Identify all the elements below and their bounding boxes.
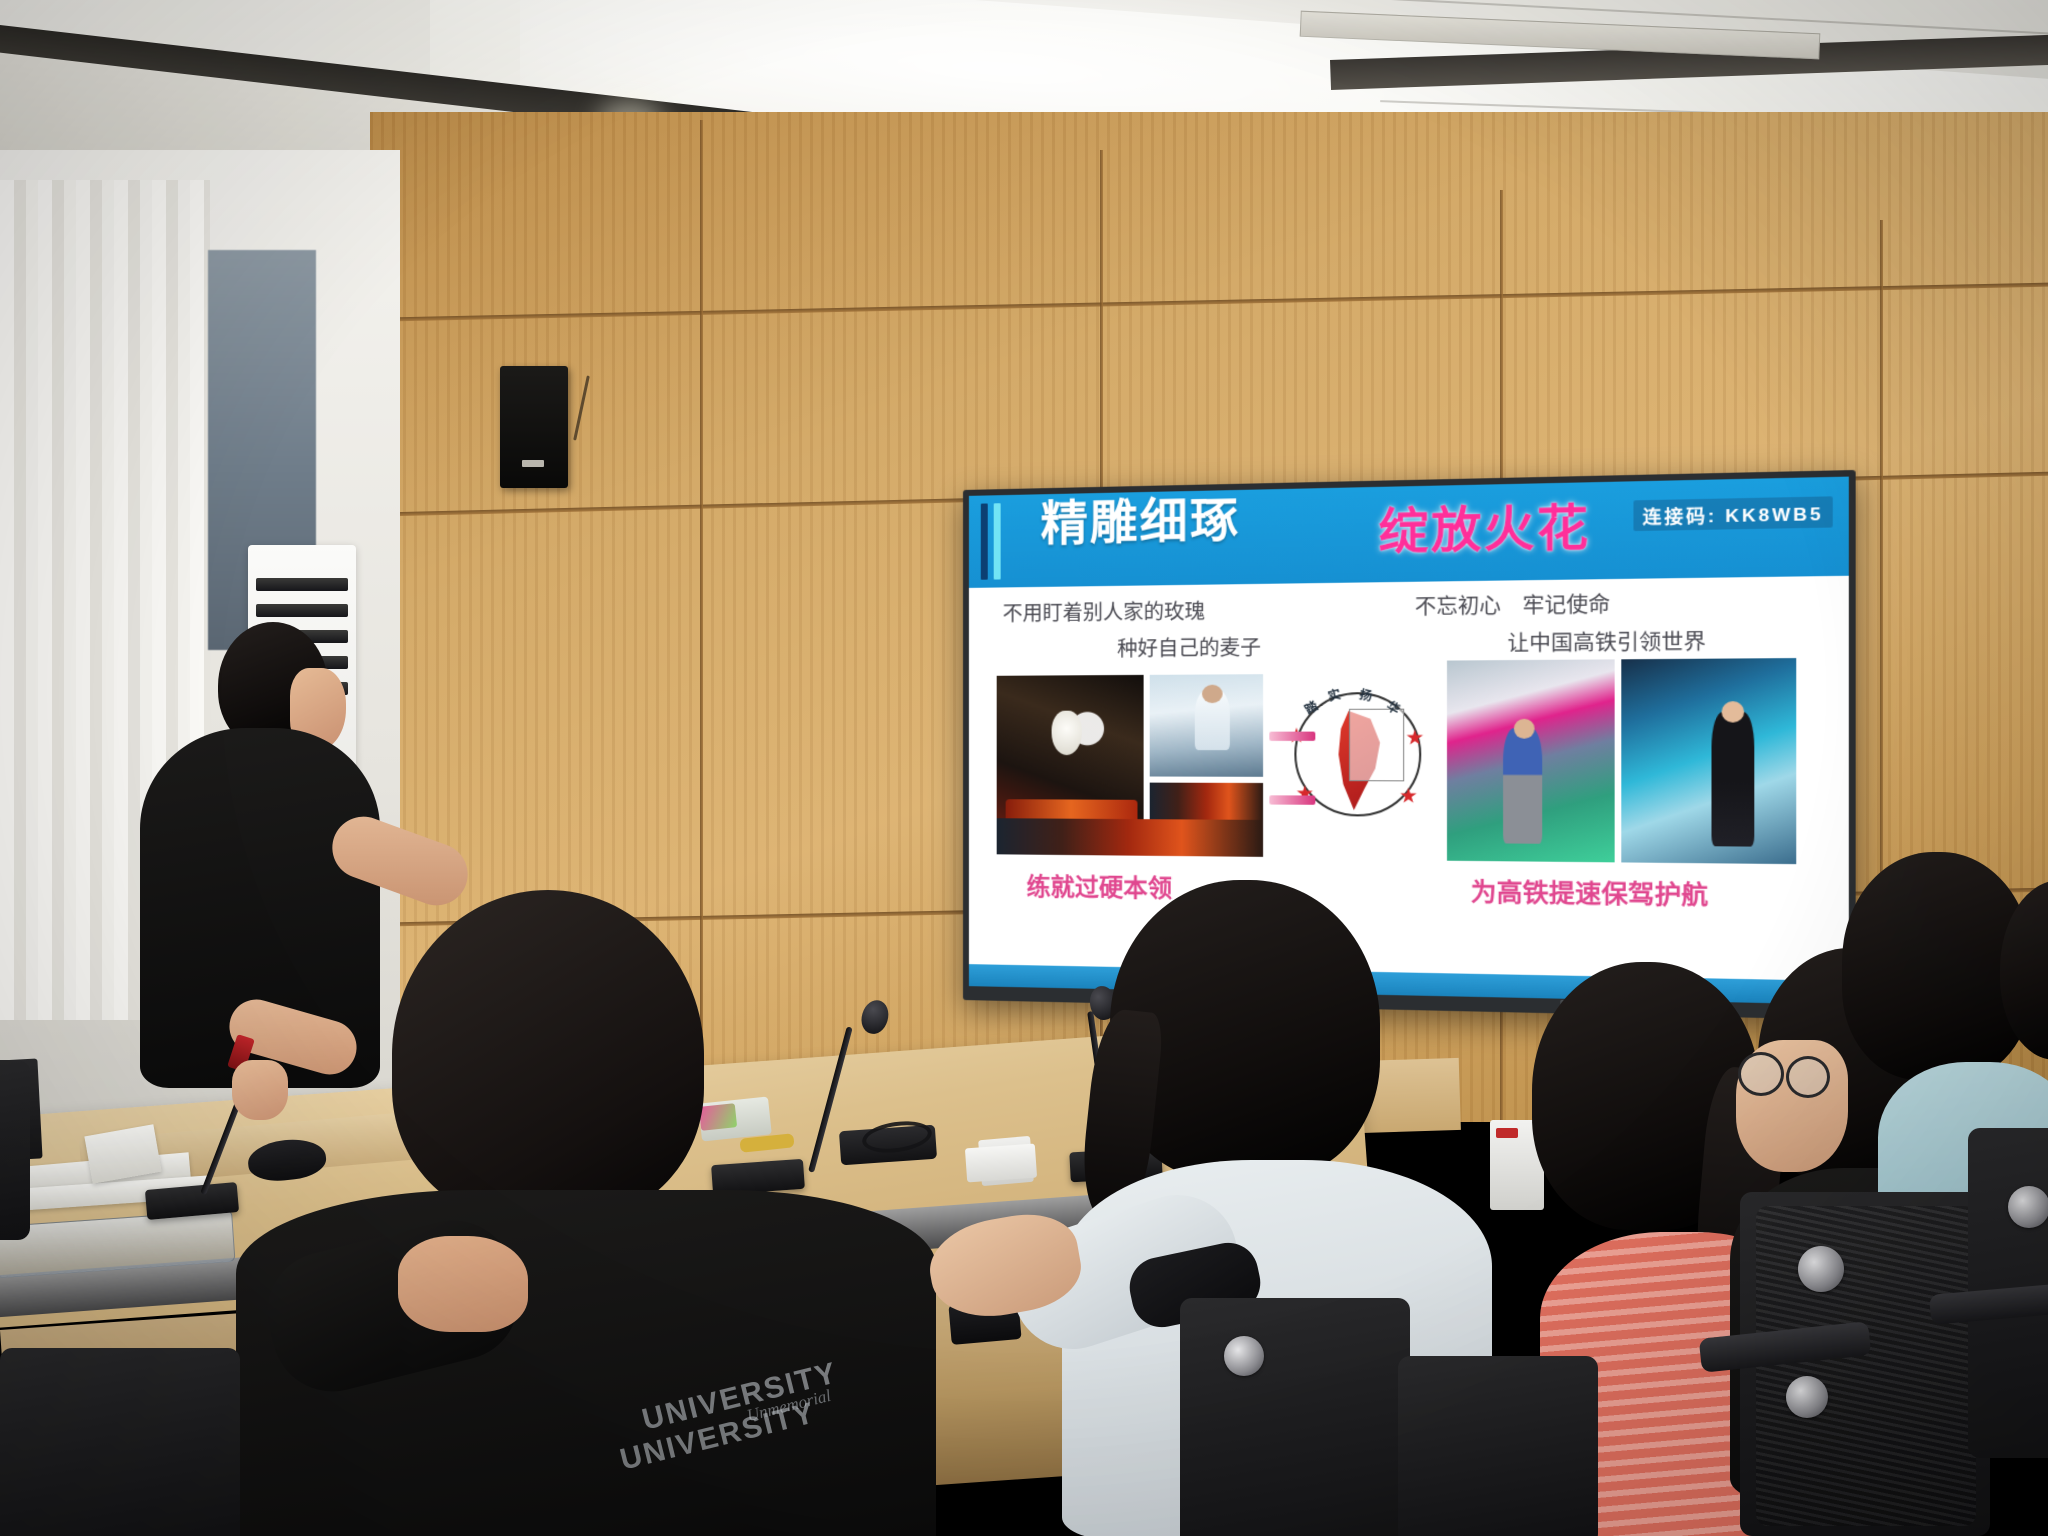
paper-note: [965, 1144, 1037, 1183]
photo-studio-green: [1445, 657, 1617, 864]
chair-pivot: [2008, 1186, 2048, 1228]
student-foreground-head: [392, 890, 704, 1220]
wall-speaker: [500, 366, 568, 488]
photo-studio-blue: [1619, 656, 1798, 866]
slide: 精雕细琢 绽放火花 连接码: KK8WB5 不用盯着别人家的玫瑰 种好自己的麦子…: [969, 477, 1849, 1005]
slide-header-accent-bars: [981, 503, 1007, 580]
office-chair-back[interactable]: [0, 1060, 30, 1240]
office-chair[interactable]: [0, 1348, 240, 1536]
colored-sticker: [699, 1103, 737, 1131]
connection-code-value: KK8WB5: [1725, 504, 1823, 526]
presentation-display[interactable]: 精雕细琢 绽放火花 连接码: KK8WB5 不用盯着别人家的玫瑰 种好自己的麦子…: [963, 470, 1856, 1020]
glasses-lens-right: [1786, 1056, 1830, 1098]
caption-right-line2: 让中国高铁引领世界: [1507, 625, 1705, 657]
accent-bar-cyan: [994, 503, 1001, 579]
chair-pivot: [1786, 1376, 1828, 1418]
caption-right-line1: 不忘初心 牢记使命: [1415, 588, 1610, 621]
caption-bottom-left: 练就过硬本领: [1027, 867, 1173, 904]
caption-left-line2: 种好自己的麦子: [1117, 631, 1261, 662]
office-chair[interactable]: [1398, 1356, 1598, 1536]
slide-title-main: 精雕细琢: [1041, 494, 1349, 547]
room-scene: 精雕细琢 绽放火花 连接码: KK8WB5 不用盯着别人家的玫瑰 种好自己的麦子…: [0, 0, 2048, 1536]
arrow-pink: [1269, 732, 1315, 741]
connection-code-label: 连接码:: [1643, 506, 1717, 528]
slide-header: 精雕细琢 绽放火花 连接码: KK8WB5: [969, 477, 1849, 588]
badge-inner-frame: [1349, 709, 1404, 782]
glasses-lens-left: [1738, 1052, 1784, 1096]
connection-code: 连接码: KK8WB5: [1634, 496, 1833, 531]
photo-lab-technician: [1148, 672, 1265, 779]
accent-bar-dark: [981, 503, 988, 579]
photo-sparks-strip: [995, 818, 1265, 859]
ac-louver: [256, 578, 348, 591]
chair-mesh-back: [1756, 1206, 1976, 1526]
office-chair[interactable]: [1180, 1298, 1410, 1536]
wall-seam: [700, 120, 703, 1120]
caption-left-line1: 不用盯着别人家的玫瑰: [1003, 595, 1205, 627]
student-foreground-hand: [398, 1236, 528, 1332]
speaker-logo: [522, 460, 544, 467]
display-screen: 精雕细琢 绽放火花 连接码: KK8WB5 不用盯着别人家的玫瑰 种好自己的麦子…: [969, 477, 1849, 1005]
presenter-hand: [232, 1060, 288, 1120]
ac-louver: [256, 604, 348, 617]
slide-body: 不用盯着别人家的玫瑰 种好自己的麦子 不忘初心 牢记使命 让中国高铁引领世界: [969, 576, 1849, 1005]
arrow-pink: [1269, 795, 1315, 804]
caption-bottom-right: 为高铁提速保驾护航: [1471, 871, 1708, 911]
chair-pivot: [1798, 1246, 1844, 1292]
power-indicator: [1496, 1128, 1518, 1138]
chair-pivot: [1224, 1336, 1264, 1376]
slide-title-accent: 绽放火花: [1379, 486, 1591, 562]
